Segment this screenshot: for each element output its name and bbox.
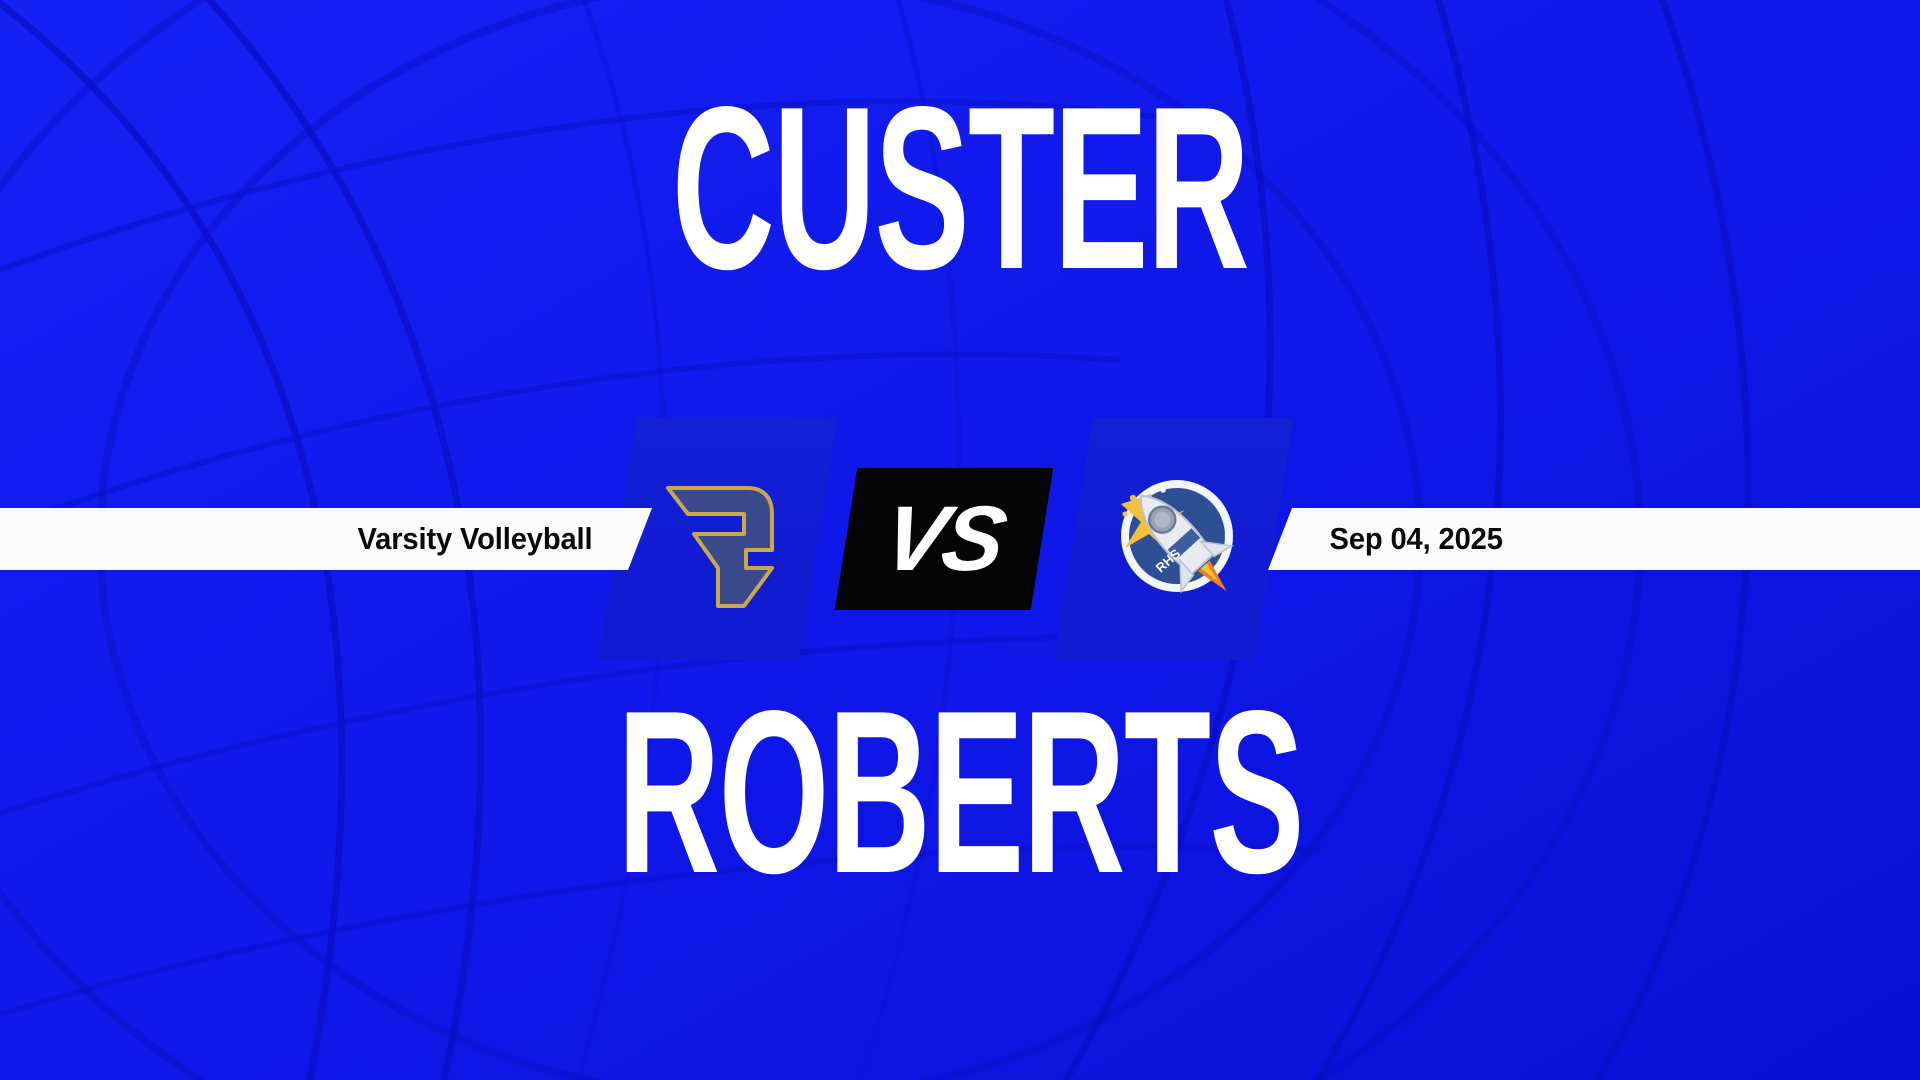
date-label: Sep 04, 2025	[1330, 521, 1503, 557]
matchup-graphic: CUSTER ROBERTS VS	[0, 0, 1920, 1080]
info-banner-left: Varsity Volleyball	[0, 508, 652, 570]
info-banner-right: Sep 04, 2025	[1268, 508, 1920, 570]
info-banner: Varsity Volleyball Sep 04, 2025	[0, 508, 1920, 570]
bottom-team-name: ROBERTS	[370, 700, 1551, 886]
top-team-name: CUSTER	[370, 96, 1551, 282]
sport-label: Varsity Volleyball	[358, 521, 593, 557]
